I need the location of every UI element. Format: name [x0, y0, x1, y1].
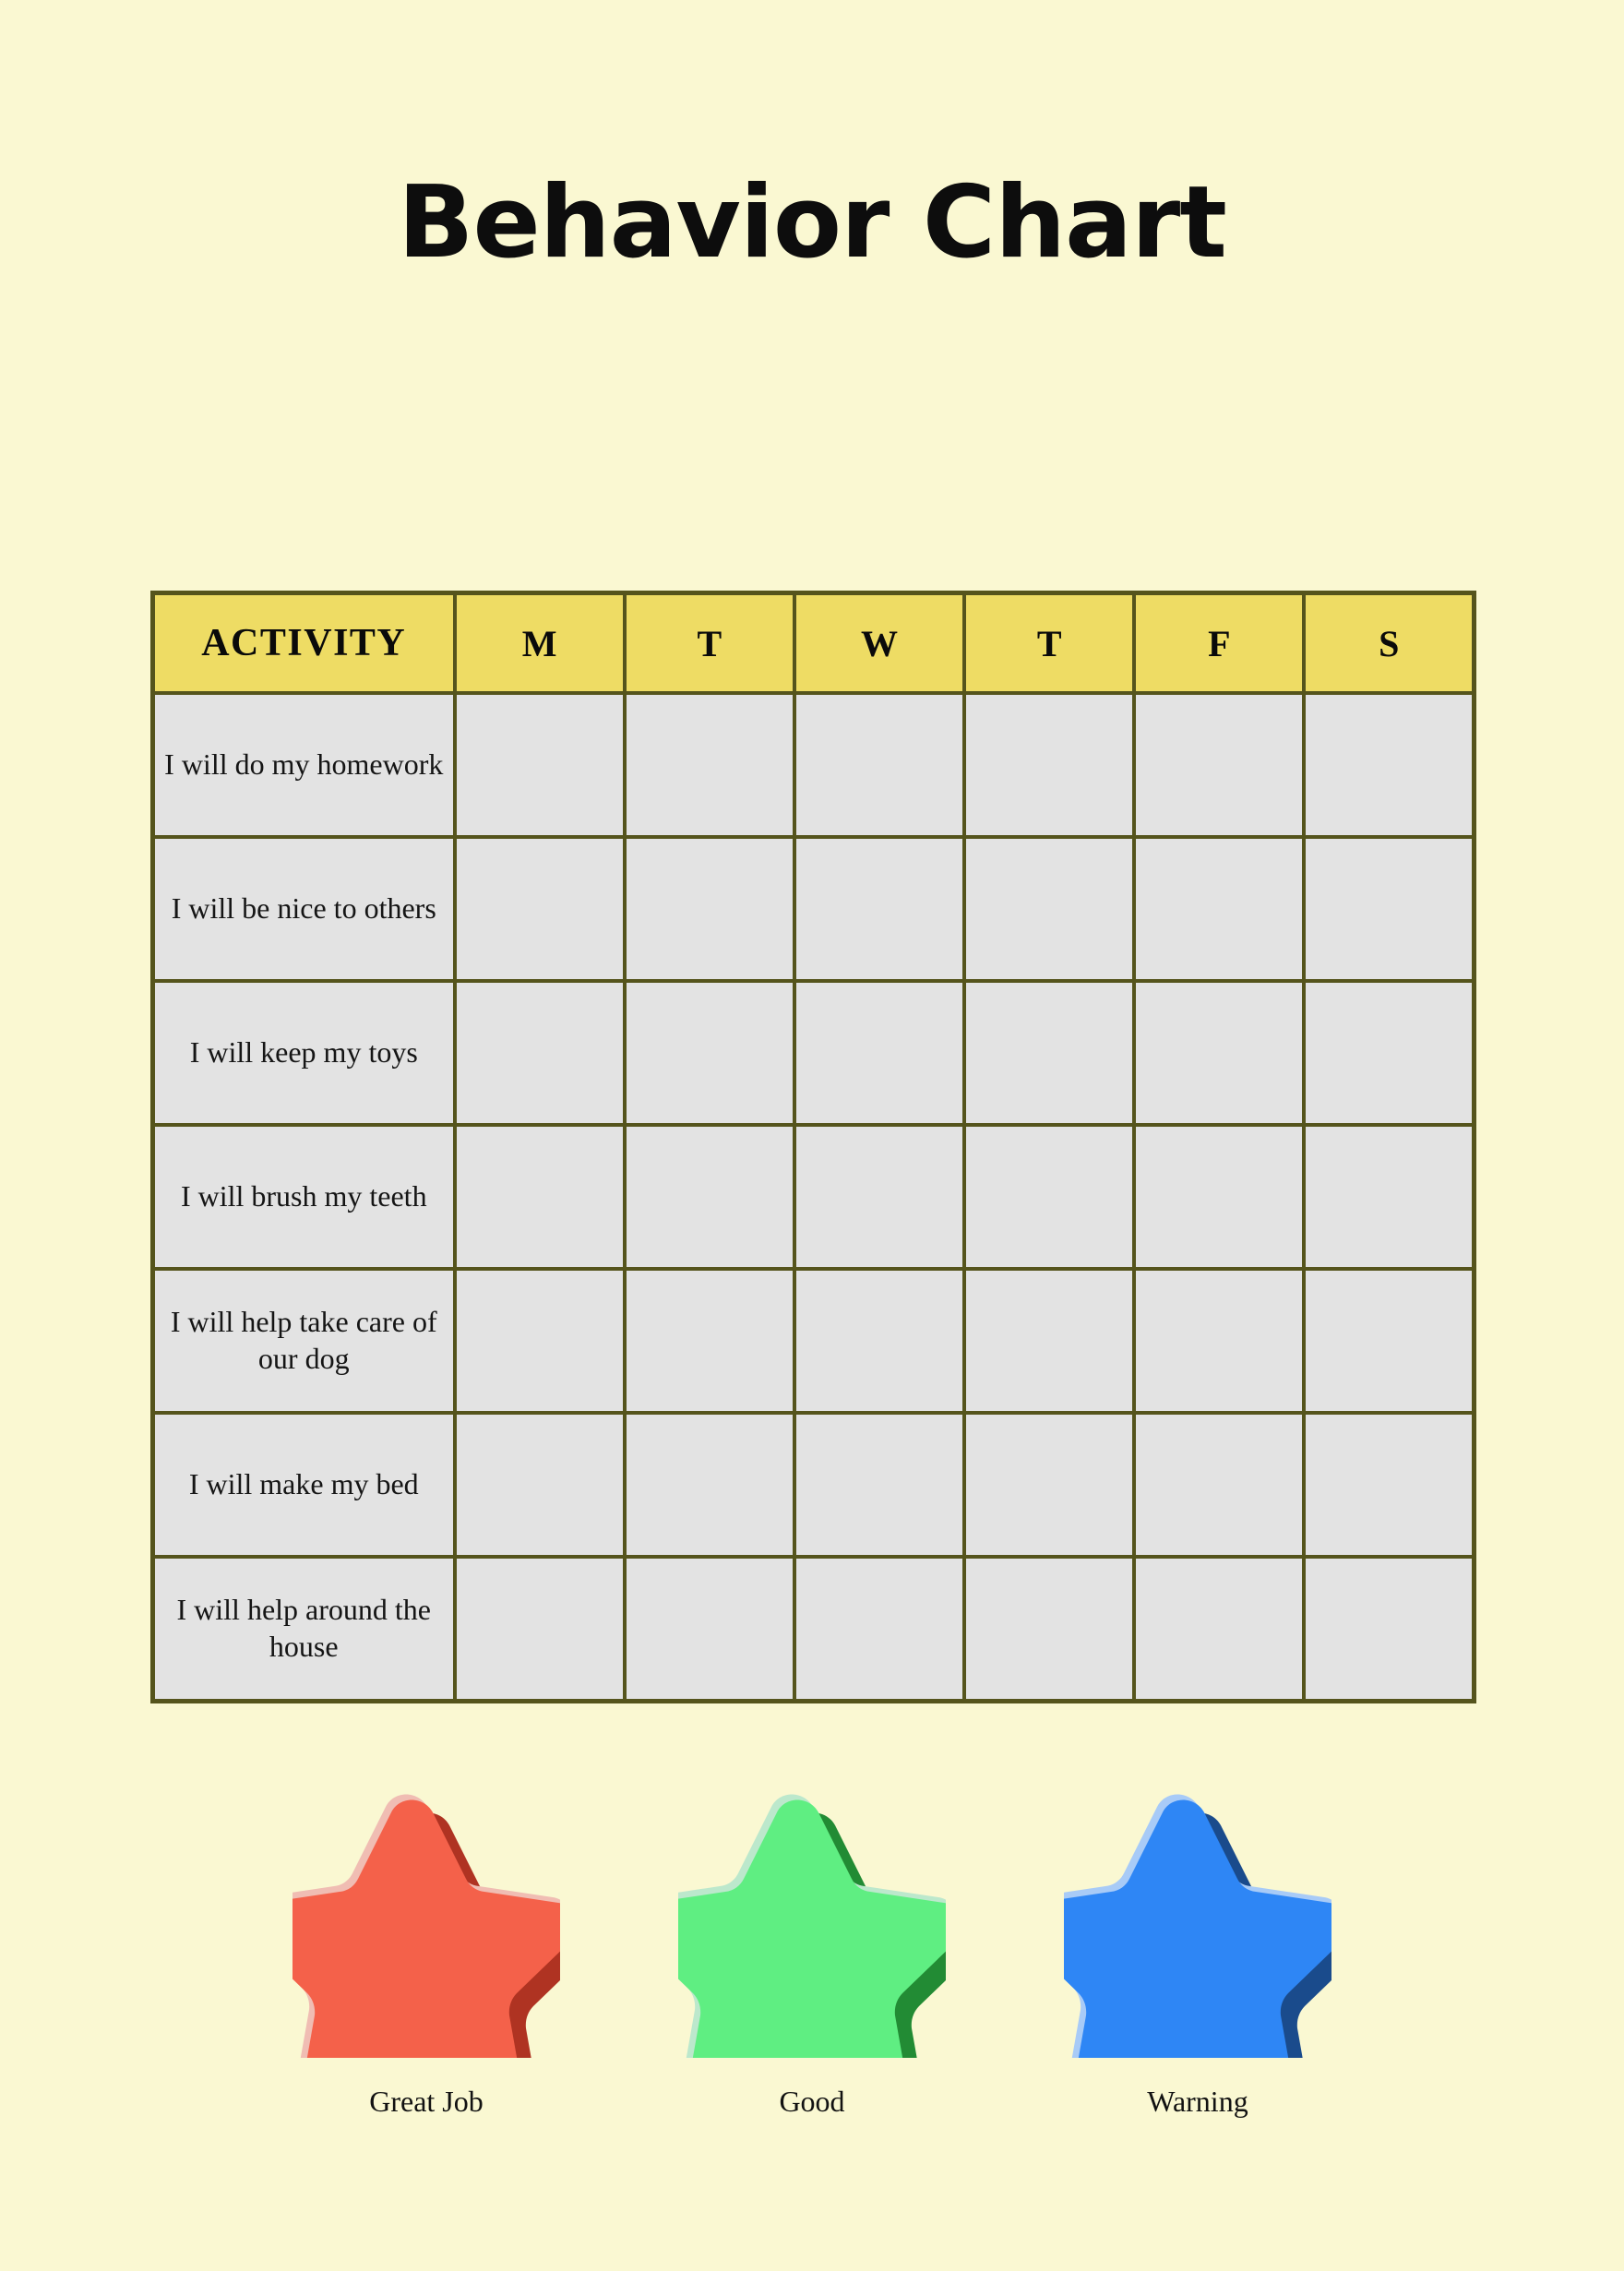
mark-cell-thursday[interactable] [964, 1125, 1134, 1269]
star-icon [678, 1781, 946, 2058]
table-row: I will be nice to others [153, 837, 1475, 981]
mark-cell-wednesday[interactable] [794, 1413, 964, 1557]
legend-item-great-job[interactable]: Great Job [293, 1781, 560, 2118]
mark-cell-monday[interactable] [455, 1125, 625, 1269]
activity-label: I will help around the house [153, 1557, 455, 1702]
mark-cell-saturday[interactable] [1304, 1125, 1474, 1269]
mark-cell-tuesday[interactable] [625, 1125, 794, 1269]
column-header-monday: M [455, 593, 625, 694]
mark-cell-wednesday[interactable] [794, 981, 964, 1125]
mark-cell-tuesday[interactable] [625, 1413, 794, 1557]
mark-cell-thursday[interactable] [964, 837, 1134, 981]
page-title: Behavior Chart [0, 164, 1624, 281]
mark-cell-friday[interactable] [1134, 1557, 1304, 1702]
mark-cell-monday[interactable] [455, 1557, 625, 1702]
mark-cell-monday[interactable] [455, 981, 625, 1125]
activity-label: I will do my homework [153, 693, 455, 837]
mark-cell-friday[interactable] [1134, 1269, 1304, 1413]
activity-label: I will be nice to others [153, 837, 455, 981]
behavior-chart-table-wrapper: ACTIVITY M T W T F S I will do my homewo… [150, 591, 1472, 1703]
table-row: I will make my bed [153, 1413, 1475, 1557]
legend-item-good[interactable]: Good [678, 1781, 946, 2118]
activity-label: I will keep my toys [153, 981, 455, 1125]
mark-cell-saturday[interactable] [1304, 837, 1474, 981]
mark-cell-thursday[interactable] [964, 1413, 1134, 1557]
table-row: I will help around the house [153, 1557, 1475, 1702]
mark-cell-tuesday[interactable] [625, 1557, 794, 1702]
activity-label: I will brush my teeth [153, 1125, 455, 1269]
activity-label: I will help take care of our dog [153, 1269, 455, 1413]
mark-cell-monday[interactable] [455, 693, 625, 837]
legend: Great Job Good Warning [0, 1781, 1624, 2118]
mark-cell-wednesday[interactable] [794, 1557, 964, 1702]
mark-cell-friday[interactable] [1134, 693, 1304, 837]
mark-cell-saturday[interactable] [1304, 981, 1474, 1125]
mark-cell-tuesday[interactable] [625, 981, 794, 1125]
legend-item-warning[interactable]: Warning [1064, 1781, 1331, 2118]
mark-cell-friday[interactable] [1134, 837, 1304, 981]
legend-label-good: Good [779, 2086, 844, 2118]
column-header-tuesday: T [625, 593, 794, 694]
mark-cell-friday[interactable] [1134, 1125, 1304, 1269]
mark-cell-tuesday[interactable] [625, 1269, 794, 1413]
column-header-activity: ACTIVITY [153, 593, 455, 694]
mark-cell-thursday[interactable] [964, 1269, 1134, 1413]
mark-cell-tuesday[interactable] [625, 837, 794, 981]
legend-label-warning: Warning [1147, 2086, 1248, 2118]
column-header-saturday: S [1304, 593, 1474, 694]
star-icon [293, 1781, 560, 2058]
table-header: ACTIVITY M T W T F S [153, 593, 1475, 694]
mark-cell-thursday[interactable] [964, 981, 1134, 1125]
mark-cell-monday[interactable] [455, 837, 625, 981]
mark-cell-wednesday[interactable] [794, 1269, 964, 1413]
mark-cell-monday[interactable] [455, 1269, 625, 1413]
mark-cell-wednesday[interactable] [794, 693, 964, 837]
mark-cell-saturday[interactable] [1304, 1557, 1474, 1702]
column-header-friday: F [1134, 593, 1304, 694]
mark-cell-thursday[interactable] [964, 1557, 1134, 1702]
table-body: I will do my homework I will be nice to … [153, 693, 1475, 1702]
column-header-thursday: T [964, 593, 1134, 694]
legend-label-great-job: Great Job [369, 2086, 484, 2118]
mark-cell-friday[interactable] [1134, 1413, 1304, 1557]
mark-cell-wednesday[interactable] [794, 837, 964, 981]
mark-cell-monday[interactable] [455, 1413, 625, 1557]
column-header-wednesday: W [794, 593, 964, 694]
table-row: I will brush my teeth [153, 1125, 1475, 1269]
mark-cell-wednesday[interactable] [794, 1125, 964, 1269]
mark-cell-friday[interactable] [1134, 981, 1304, 1125]
mark-cell-tuesday[interactable] [625, 693, 794, 837]
table-row: I will help take care of our dog [153, 1269, 1475, 1413]
table-row: I will keep my toys [153, 981, 1475, 1125]
activity-label: I will make my bed [153, 1413, 455, 1557]
star-icon [1064, 1781, 1331, 2058]
header-row: ACTIVITY M T W T F S [153, 593, 1475, 694]
mark-cell-thursday[interactable] [964, 693, 1134, 837]
mark-cell-saturday[interactable] [1304, 1413, 1474, 1557]
behavior-chart-table: ACTIVITY M T W T F S I will do my homewo… [150, 591, 1476, 1703]
mark-cell-saturday[interactable] [1304, 1269, 1474, 1413]
table-row: I will do my homework [153, 693, 1475, 837]
mark-cell-saturday[interactable] [1304, 693, 1474, 837]
